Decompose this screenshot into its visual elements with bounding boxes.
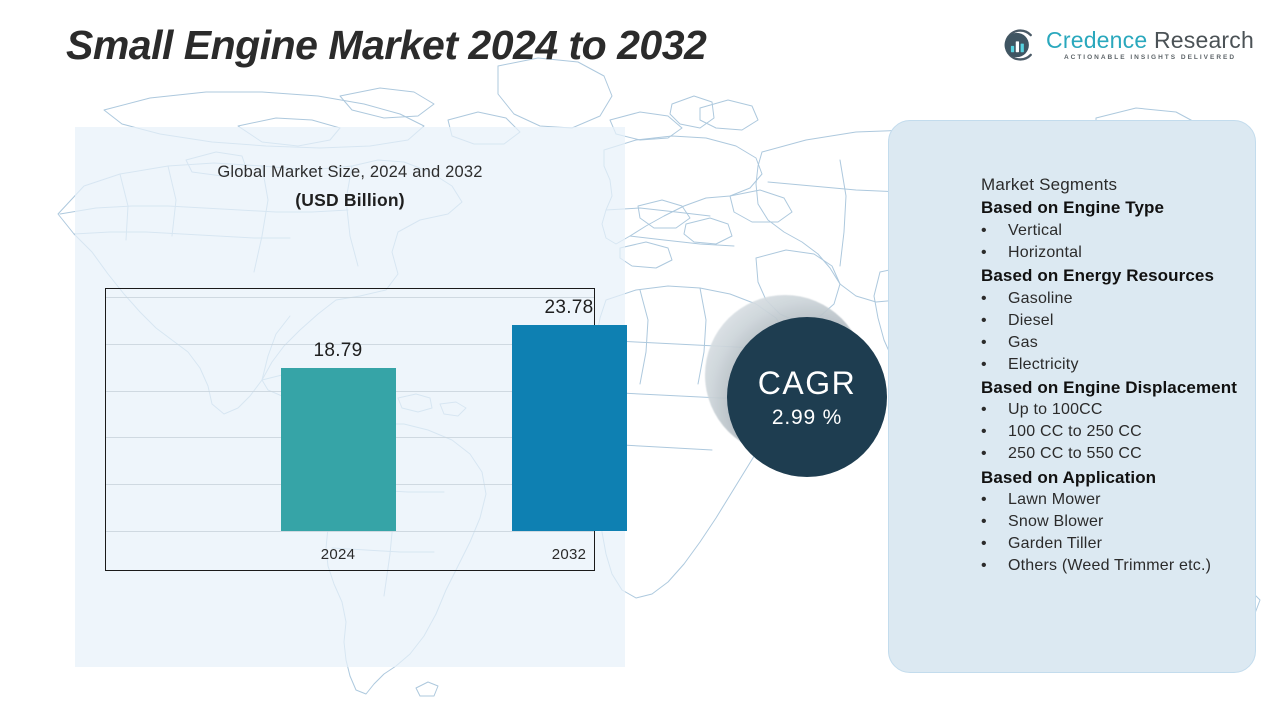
- segment-item-label: Others (Weed Trimmer etc.): [1008, 555, 1255, 577]
- segment-list-item: •Electricity: [889, 354, 1255, 376]
- segment-item-label: Snow Blower: [1008, 511, 1255, 533]
- bullet-icon: •: [981, 242, 1008, 264]
- bar-chart: 18.79202423.782032: [105, 288, 595, 571]
- segment-list-item: •Up to 100CC: [889, 399, 1255, 421]
- segment-item-label: Diesel: [1008, 310, 1255, 332]
- bar-value-label: 23.78: [489, 297, 649, 319]
- cagr-label: CAGR: [758, 367, 856, 399]
- segment-item-label: 100 CC to 250 CC: [1008, 421, 1255, 443]
- segment-item-label: Horizontal: [1008, 242, 1255, 264]
- bullet-icon: •: [981, 288, 1008, 310]
- segment-item-label: Gasoline: [1008, 288, 1255, 310]
- segment-list-item: •Horizontal: [889, 242, 1255, 264]
- segment-group-heading: Based on Application: [889, 466, 1255, 489]
- bar-2024: [281, 368, 396, 531]
- bullet-icon: •: [981, 220, 1008, 242]
- cagr-badge: CAGR 2.99 %: [727, 317, 887, 477]
- segment-list-item: •Gasoline: [889, 288, 1255, 310]
- segment-list-item: •Others (Weed Trimmer etc.): [889, 555, 1255, 577]
- segment-item-label: Electricity: [1008, 354, 1255, 376]
- logo-text: Credence Research Actionable Insights De…: [1046, 29, 1254, 62]
- segment-list-item: •Lawn Mower: [889, 489, 1255, 511]
- chart-title: Global Market Size, 2024 and 2032: [75, 163, 625, 182]
- bullet-icon: •: [981, 511, 1008, 533]
- segment-group-heading: Based on Energy Resources: [889, 264, 1255, 287]
- segment-item-label: 250 CC to 550 CC: [1008, 443, 1255, 465]
- segment-item-label: Up to 100CC: [1008, 399, 1255, 421]
- bar-chart-circle-icon: [1001, 27, 1037, 63]
- cagr-circle: CAGR 2.99 %: [727, 317, 887, 477]
- segment-list-item: •Diesel: [889, 310, 1255, 332]
- segments-group-list: Based on Engine Type•Vertical•Horizontal…: [889, 196, 1255, 577]
- segments-heading: Market Segments: [889, 173, 1255, 196]
- segment-item-label: Lawn Mower: [1008, 489, 1255, 511]
- bar-2032: [512, 325, 627, 531]
- market-size-panel: Global Market Size, 2024 and 2032 (USD B…: [75, 127, 625, 667]
- segment-list-item: •100 CC to 250 CC: [889, 421, 1255, 443]
- bar-category-label: 2024: [258, 546, 418, 563]
- segment-item-label: Garden Tiller: [1008, 533, 1255, 555]
- segment-item-label: Vertical: [1008, 220, 1255, 242]
- segment-list-item: •250 CC to 550 CC: [889, 443, 1255, 465]
- bullet-icon: •: [981, 332, 1008, 354]
- bullet-icon: •: [981, 443, 1008, 465]
- bullet-icon: •: [981, 555, 1008, 577]
- bullet-icon: •: [981, 354, 1008, 376]
- bullet-icon: •: [981, 489, 1008, 511]
- segment-group-heading: Based on Engine Type: [889, 196, 1255, 219]
- bullet-icon: •: [981, 421, 1008, 443]
- segment-list-item: •Snow Blower: [889, 511, 1255, 533]
- market-segments-panel: Market Segments Based on Engine Type•Ver…: [888, 120, 1256, 673]
- bullet-icon: •: [981, 310, 1008, 332]
- cagr-value: 2.99 %: [772, 407, 842, 428]
- chart-plot-area: 18.79202423.782032: [106, 289, 594, 570]
- segment-list-item: •Gas: [889, 332, 1255, 354]
- bar-category-label: 2032: [489, 546, 649, 563]
- logo-wordmark: Credence Research: [1046, 29, 1254, 52]
- segment-list-item: •Vertical: [889, 220, 1255, 242]
- logo-brand-first: Credence: [1046, 27, 1147, 53]
- bar-value-label: 18.79: [258, 340, 418, 362]
- segment-item-label: Gas: [1008, 332, 1255, 354]
- page-title: Small Engine Market 2024 to 2032: [66, 22, 706, 69]
- chart-units-label: (USD Billion): [75, 190, 625, 211]
- logo-tagline: Actionable Insights Delivered: [1046, 55, 1254, 62]
- segment-group-heading: Based on Engine Displacement: [889, 376, 1255, 399]
- segment-list-item: •Garden Tiller: [889, 533, 1255, 555]
- bullet-icon: •: [981, 533, 1008, 555]
- bullet-icon: •: [981, 399, 1008, 421]
- logo-brand-second: Research: [1147, 27, 1254, 53]
- header: Small Engine Market 2024 to 2032 Credenc…: [0, 0, 1280, 100]
- brand-logo: Credence Research Actionable Insights De…: [1001, 27, 1254, 63]
